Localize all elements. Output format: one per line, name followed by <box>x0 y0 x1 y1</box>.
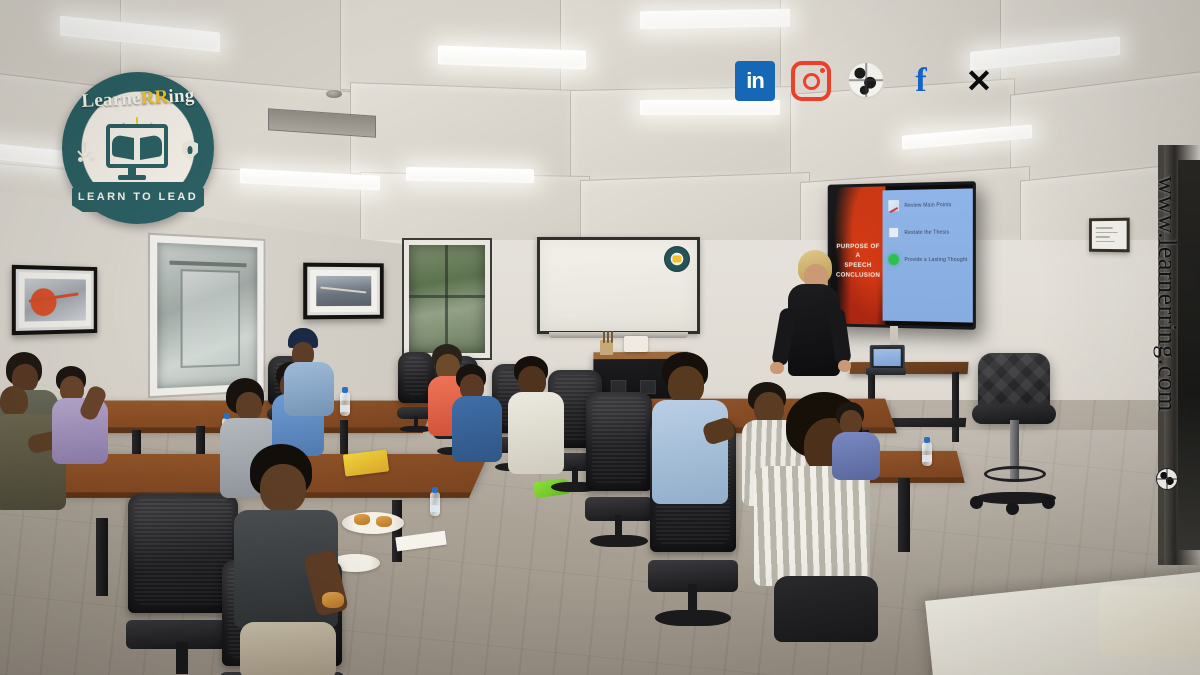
student-head <box>840 410 862 434</box>
monitor-foot <box>118 175 146 180</box>
learnerring-logo-sticker <box>664 246 690 272</box>
presenter-hand-left <box>770 362 784 374</box>
table-leg <box>898 478 910 552</box>
x-glyph: ✕ <box>959 61 999 101</box>
instagram-icon[interactable] <box>791 61 833 103</box>
chart-icon <box>889 200 900 211</box>
snack-item <box>354 514 370 525</box>
logo-word-part2: RR <box>140 86 169 108</box>
instagram-glyph <box>791 61 831 101</box>
student <box>232 444 352 674</box>
student-head <box>236 392 262 420</box>
facebook-glyph: f <box>903 61 939 101</box>
student-shorts <box>774 576 878 642</box>
linkedin-icon[interactable]: in <box>735 61 777 103</box>
slide-bullet-text: Review Main Points <box>904 202 951 209</box>
presenter <box>776 250 852 390</box>
logo-wordmark: LearneRRing <box>62 84 215 114</box>
student-torso <box>754 466 870 586</box>
student <box>52 366 114 470</box>
screenshot-root: PURPOSE OF A SPEECH CONCLUSION Review Ma… <box>0 0 1200 675</box>
logo-tagline: LEARN TO LEAD <box>78 191 198 203</box>
ceiling-light <box>640 9 790 30</box>
tall-stool-base <box>976 492 1056 504</box>
student <box>652 352 736 514</box>
globe-watermark-icon <box>1156 468 1178 490</box>
student-torso <box>452 396 502 462</box>
barn-door-rail <box>170 260 246 267</box>
social-icons-bar: in f ✕ <box>735 58 1001 106</box>
supply-cup <box>600 340 613 355</box>
office-chair <box>586 392 652 542</box>
presenter-laptop-screen <box>870 345 905 370</box>
student <box>508 356 568 480</box>
slide-bullet: Review Main Points <box>889 199 967 211</box>
green-dot-icon <box>889 254 900 265</box>
water-bottle <box>922 442 932 466</box>
ceiling-light <box>406 167 534 183</box>
student-head <box>0 386 28 416</box>
globe-glyph <box>847 61 885 99</box>
snack-item <box>322 592 344 608</box>
student-shorts <box>240 622 336 675</box>
desk-leg <box>952 372 959 442</box>
network-node-icon <box>78 142 96 164</box>
exterior-window <box>404 240 490 358</box>
student <box>284 328 338 410</box>
student-torso <box>508 392 564 474</box>
slide-bullet: Provide a Lasting Thought <box>889 254 967 265</box>
monitor-book-icon <box>102 120 174 182</box>
smoke-detector <box>326 90 342 98</box>
student-torso <box>832 432 880 480</box>
slide-bullet-text: Restate the Thesis <box>904 229 949 235</box>
framed-helicopter-photo <box>12 265 97 335</box>
student-torso <box>284 362 334 416</box>
water-bottle <box>340 392 350 416</box>
tall-stool-footring <box>984 466 1046 482</box>
water-bottle <box>430 492 440 516</box>
facebook-icon[interactable]: f <box>903 61 945 103</box>
document-icon <box>889 227 900 238</box>
presenter-hand-right <box>838 360 851 372</box>
student-torso <box>652 400 728 504</box>
linkedin-glyph: in <box>735 61 775 101</box>
book-left-page <box>112 134 134 160</box>
student-head <box>260 464 306 512</box>
student <box>452 364 506 468</box>
osprey-photo <box>316 276 371 306</box>
x-twitter-icon[interactable]: ✕ <box>959 61 1001 103</box>
table-leg <box>96 518 108 596</box>
logo-word-part3: ing <box>168 85 195 107</box>
framed-osprey-photo <box>303 263 384 320</box>
student <box>832 402 884 482</box>
whiteboard <box>537 237 700 334</box>
interior-window <box>150 235 264 396</box>
marker-tray <box>549 332 687 338</box>
slide-bullet: Restate the Thesis <box>889 227 967 239</box>
helicopter-photo <box>25 278 86 321</box>
shield-icon <box>182 140 198 160</box>
book-right-page <box>140 134 162 160</box>
snack-item <box>376 516 392 527</box>
learnerring-logo: LearneRRing LEARN TO LEAD <box>62 72 214 224</box>
slide-bullet-text: Provide a Lasting Thought <box>904 257 967 263</box>
student-head <box>668 366 704 404</box>
tissue-box <box>624 336 648 352</box>
presenter-laptop-base <box>866 368 906 375</box>
logo-word-part1: Learne <box>81 88 141 112</box>
website-globe-icon[interactable] <box>847 61 889 103</box>
website-url-vertical[interactable]: www.learnerring.com <box>1152 176 1182 412</box>
slide-body-panel: Review Main Points Restate the Thesis Pr… <box>883 189 973 323</box>
logo-tagline-banner: LEARN TO LEAD <box>72 182 204 212</box>
framed-certificate <box>1089 218 1130 253</box>
